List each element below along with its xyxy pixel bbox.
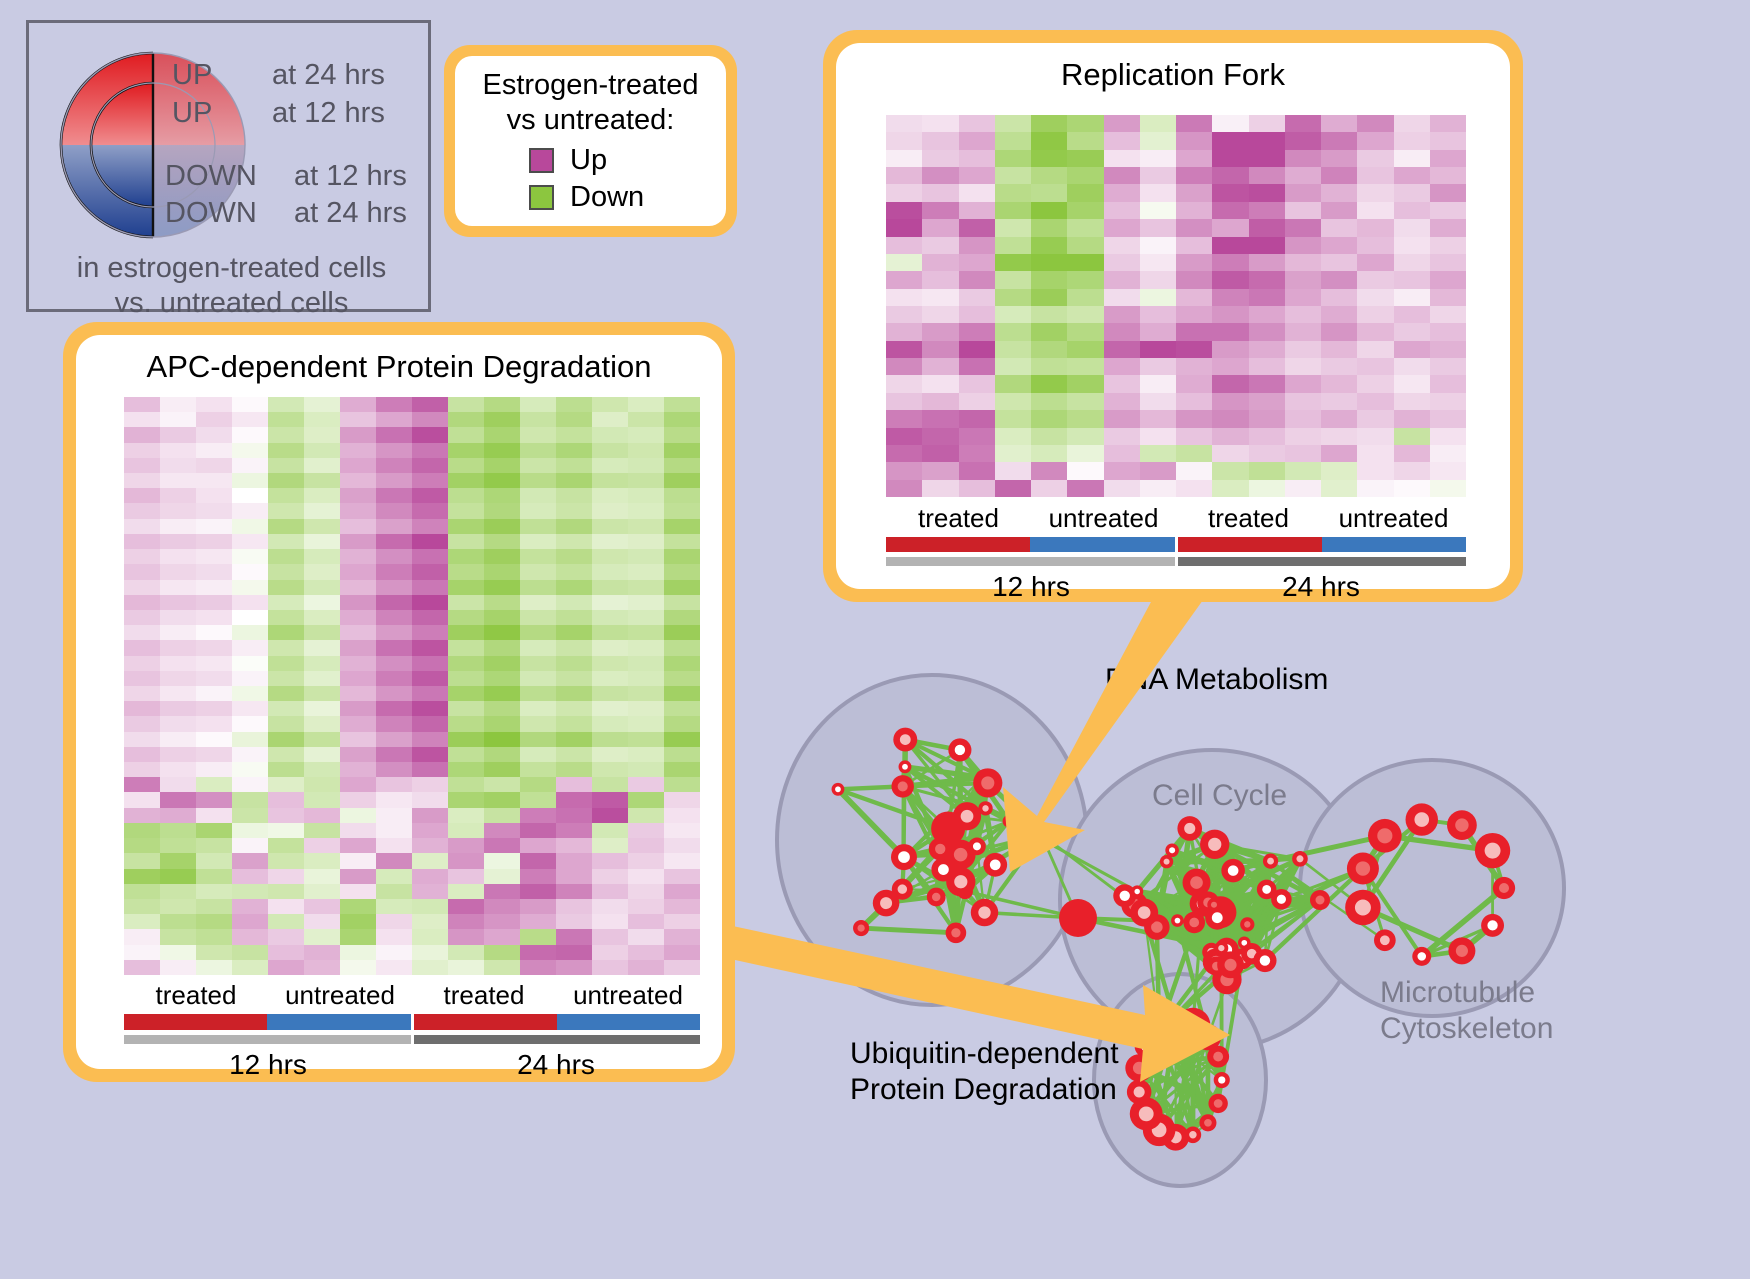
heatmap-cell (160, 610, 196, 625)
network-node[interactable] (832, 783, 845, 796)
heatmap-cell (340, 823, 376, 838)
heatmap-cell (1212, 271, 1248, 288)
heatmap-cell (232, 823, 268, 838)
node-inner (1189, 1131, 1196, 1138)
heatmap-cell (1321, 219, 1357, 236)
legend-direction-0: UP (172, 59, 212, 92)
heatmap-cell (196, 412, 232, 427)
heatmap-cell (196, 564, 232, 579)
network-node[interactable] (929, 837, 952, 860)
heatmap-cell (1357, 219, 1393, 236)
heatmap-cell (160, 716, 196, 731)
heatmap-cell (520, 412, 556, 427)
heatmap-cell (520, 914, 556, 929)
node-inner (1120, 891, 1130, 901)
heatmap-cell (448, 564, 484, 579)
network-node[interactable] (891, 844, 917, 870)
network-node[interactable] (1003, 815, 1015, 827)
heatmap-cell (556, 914, 592, 929)
heatmap-cell (484, 808, 520, 823)
heatmap-cell (160, 549, 196, 564)
heatmap-cell (232, 443, 268, 458)
heatmap-cell (1140, 393, 1176, 410)
heatmap-cell (959, 167, 995, 184)
heatmap-cell (268, 747, 304, 762)
heatmap-cell (628, 853, 664, 868)
node-inner (1218, 1076, 1225, 1083)
condition-bar-segment-2 (414, 1014, 557, 1030)
heatmap-cell (520, 762, 556, 777)
heatmap-cell (1104, 375, 1140, 392)
heatmap-cell (196, 640, 232, 655)
heatmap-cell (376, 443, 412, 458)
heatmap-cell (160, 443, 196, 458)
network-node[interactable] (1214, 1072, 1230, 1088)
heatmap-cell (664, 549, 700, 564)
network-node[interactable] (1263, 853, 1278, 868)
figure-root: UP at 24 hrs UP at 12 hrs DOWN at 12 hrs… (0, 0, 1750, 1279)
network-node[interactable] (1481, 914, 1504, 937)
heatmap-cell (1104, 341, 1140, 358)
group-label-treated-2: treated (412, 980, 556, 1011)
heatmap-cell (1321, 289, 1357, 306)
heatmap-cell (1249, 445, 1285, 462)
heatmap-cell (1357, 428, 1393, 445)
heatmap-cell (412, 701, 448, 716)
heatmap-cell (448, 792, 484, 807)
heatmap-cell (1285, 375, 1321, 392)
network-node[interactable] (1475, 833, 1510, 868)
heatmap-cell (124, 625, 160, 640)
network-node[interactable] (1183, 912, 1205, 934)
heatmap-cell (232, 625, 268, 640)
heatmap-cell (995, 428, 1031, 445)
network-node[interactable] (1240, 917, 1254, 931)
heatmap-cell (922, 410, 958, 427)
network-node[interactable] (1292, 851, 1308, 867)
node-inner (1260, 955, 1270, 965)
heatmap-cell (664, 534, 700, 549)
network-node[interactable] (1345, 890, 1381, 926)
heatmap-cell (1357, 237, 1393, 254)
heatmap-cell (484, 473, 520, 488)
heatmap-cell (628, 610, 664, 625)
heatmap-cell (412, 595, 448, 610)
heatmap-cell (1140, 271, 1176, 288)
heatmap-cell (484, 397, 520, 412)
heatmap-cell (1285, 132, 1321, 149)
heatmap-cell (304, 549, 340, 564)
heatmap-cell (1140, 410, 1176, 427)
heatmap-cell (124, 929, 160, 944)
heatmap-cell (628, 792, 664, 807)
heatmap-cell (520, 549, 556, 564)
network-node[interactable] (1199, 1114, 1216, 1131)
heatmap-cell (124, 595, 160, 610)
heatmap-cell (376, 458, 412, 473)
heatmap-cell (520, 503, 556, 518)
heatmap-cell (196, 929, 232, 944)
network-node[interactable] (1171, 914, 1184, 927)
heatmap-cell (520, 427, 556, 442)
heatmap-cell (160, 473, 196, 488)
heatmap-cell (995, 393, 1031, 410)
node-inner (1141, 1041, 1151, 1051)
heatmap-cell (1212, 202, 1248, 219)
heatmap-cell (664, 610, 700, 625)
heatmap-cell (664, 929, 700, 944)
heatmap-cell (124, 564, 160, 579)
heatmap-cell (664, 716, 700, 731)
heatmap-cell (124, 412, 160, 427)
heatmap-cell (922, 150, 958, 167)
heatmap-cell (592, 762, 628, 777)
network-node[interactable] (1221, 859, 1245, 883)
heatmap-cell (628, 671, 664, 686)
heatmap-cell (160, 503, 196, 518)
heatmap-cell (304, 473, 340, 488)
network-node[interactable] (971, 899, 998, 926)
heatmap-cell (1067, 254, 1103, 271)
heatmap-cell (592, 792, 628, 807)
heatmap-cell (268, 625, 304, 640)
heatmap-cell (1394, 254, 1430, 271)
heatmap-cell (556, 519, 592, 534)
heatmap-cell (1394, 271, 1430, 288)
heatmap-cell (1067, 323, 1103, 340)
heatmap-cell (340, 945, 376, 960)
apc-group-labels: treateduntreatedtreateduntreated (124, 980, 700, 1011)
heatmap-cell (1321, 375, 1357, 392)
network-node[interactable] (946, 867, 975, 896)
heatmap-cell (886, 289, 922, 306)
heatmap-cell (340, 656, 376, 671)
network-node[interactable] (1200, 830, 1229, 859)
heatmap-cell (304, 534, 340, 549)
network-node[interactable] (983, 853, 1007, 877)
heatmap-cell (664, 656, 700, 671)
heatmap-cell (160, 960, 196, 975)
heatmap-cell (196, 625, 232, 640)
node-inner (1455, 818, 1468, 831)
heatmap-cell (1321, 341, 1357, 358)
network-node[interactable] (1059, 899, 1097, 937)
network-node[interactable] (1412, 947, 1431, 966)
network-node[interactable] (1374, 929, 1396, 951)
heatmap-cell (232, 960, 268, 975)
heatmap-cell (376, 412, 412, 427)
heatmap-cell (448, 534, 484, 549)
heatmap-cell (1430, 184, 1466, 201)
network-node[interactable] (1448, 937, 1475, 964)
heatmap-cell (628, 960, 664, 975)
heatmap-cell (922, 341, 958, 358)
network-node[interactable] (1131, 885, 1143, 897)
heatmap-cell (412, 412, 448, 427)
heatmap-cell (592, 640, 628, 655)
heatmap-cell (340, 884, 376, 899)
heatmap-cell (995, 115, 1031, 132)
heatmap-cell (124, 610, 160, 625)
heatmap-cell (592, 945, 628, 960)
heatmap-cell (448, 671, 484, 686)
heatmap-cell (232, 747, 268, 762)
heatmap-cell (448, 412, 484, 427)
heatmap-cell (1430, 480, 1466, 497)
heatmap-cell (556, 945, 592, 960)
heatmap-cell (340, 899, 376, 914)
heatmap-cell (1140, 184, 1176, 201)
heatmap-cell (448, 838, 484, 853)
heatmap-cell (520, 580, 556, 595)
heatmap-cell (160, 595, 196, 610)
node-inner (1417, 952, 1426, 961)
heatmap-cell (448, 397, 484, 412)
network-node[interactable] (1310, 890, 1330, 910)
network-node[interactable] (853, 920, 869, 936)
network-node[interactable] (1130, 899, 1158, 927)
heatmap-cell (448, 884, 484, 899)
heatmap-cell (160, 427, 196, 442)
network-node[interactable] (1208, 1094, 1227, 1113)
heatmap-cell (664, 853, 700, 868)
heatmap-cell (1285, 115, 1321, 132)
heatmap-cell (1430, 445, 1466, 462)
heatmap-cell (628, 732, 664, 747)
heatmap-cell (1067, 445, 1103, 462)
heatmap-cell (1104, 132, 1140, 149)
heatmap-cell (1357, 167, 1393, 184)
heatmap-cell (196, 747, 232, 762)
heatmap-cell (304, 656, 340, 671)
heatmap-cell (1067, 184, 1103, 201)
heatmap-cell (1430, 462, 1466, 479)
network-node[interactable] (953, 802, 981, 830)
network-node[interactable] (1177, 816, 1202, 841)
heatmap-cell (340, 488, 376, 503)
network-node[interactable] (1447, 810, 1477, 840)
network-node[interactable] (968, 838, 986, 856)
network-node[interactable] (1207, 898, 1220, 911)
heatmap-cell (304, 853, 340, 868)
network-node[interactable] (1347, 853, 1379, 885)
heatmap-cell (1212, 393, 1248, 410)
network-node[interactable] (978, 801, 992, 815)
node-inner (1212, 912, 1223, 923)
heatmap-cell (959, 150, 995, 167)
heatmap-cell (1394, 202, 1430, 219)
heatmap-cell (995, 237, 1031, 254)
heatmap-cell (556, 732, 592, 747)
network-node[interactable] (892, 879, 913, 900)
heatmap-cell (1357, 445, 1393, 462)
node-inner (1244, 921, 1250, 927)
heatmap-cell (376, 397, 412, 412)
heatmap-cell (304, 412, 340, 427)
heatmap-cell (520, 458, 556, 473)
heatmap-cell (160, 686, 196, 701)
heatmap-cell (995, 323, 1031, 340)
heatmap-cell (160, 671, 196, 686)
heatmap-cell (196, 869, 232, 884)
heatmap-cell (1321, 167, 1357, 184)
heatmap-cell (1357, 115, 1393, 132)
heatmap-cell (1321, 445, 1357, 462)
network-node[interactable] (893, 728, 917, 752)
heatmap-cell (484, 534, 520, 549)
heatmap-cell (1176, 254, 1212, 271)
network-node[interactable] (1125, 1054, 1153, 1082)
network-node[interactable] (1207, 1046, 1229, 1068)
heatmap-cell (1321, 358, 1357, 375)
heatmap-cell (1176, 393, 1212, 410)
heatmap-cell (664, 564, 700, 579)
network-node[interactable] (948, 738, 971, 761)
heatmap-cell (1430, 410, 1466, 427)
heatmap-cell (1104, 289, 1140, 306)
network-node[interactable] (1493, 877, 1515, 899)
network-node[interactable] (1214, 941, 1228, 955)
heatmap-cell (376, 610, 412, 625)
network-node[interactable] (1406, 803, 1438, 835)
heatmap-cell (304, 823, 340, 838)
heatmap-cell (1212, 306, 1248, 323)
heatmap-cell (1031, 115, 1067, 132)
heatmap-cell (232, 914, 268, 929)
heatmap-cell (232, 792, 268, 807)
heatmap-cell (448, 929, 484, 944)
network-node[interactable] (1368, 819, 1402, 853)
heatmap-cell (304, 458, 340, 473)
heatmap-cell (628, 701, 664, 716)
network-node[interactable] (899, 760, 912, 773)
heatmap-cell (995, 289, 1031, 306)
network-node[interactable] (1253, 949, 1276, 972)
heatmap-cell (1176, 184, 1212, 201)
heatmap-cell (592, 853, 628, 868)
time-bar-segment-0 (124, 1035, 411, 1044)
heatmap-cell (1031, 306, 1067, 323)
heatmap-cell (1430, 341, 1466, 358)
heatmap-cell (196, 443, 232, 458)
heatmap-cell (592, 914, 628, 929)
heatmap-cell (412, 869, 448, 884)
heatmap-cell (628, 443, 664, 458)
heatmap-cell (448, 747, 484, 762)
heatmap-cell (995, 462, 1031, 479)
down-swatch (529, 185, 554, 210)
heatmap-cell (1067, 306, 1103, 323)
heatmap-cell (160, 929, 196, 944)
heatmap-cell (232, 519, 268, 534)
heatmap-cell (1249, 271, 1285, 288)
network-node[interactable] (1217, 951, 1244, 978)
heatmap-cell (520, 519, 556, 534)
heatmap-cell (484, 686, 520, 701)
heatmap-cell (124, 777, 160, 792)
heatmap-cell (886, 184, 922, 201)
heatmap-cell (124, 899, 160, 914)
heatmap-cell (520, 929, 556, 944)
heatmap-cell (268, 716, 304, 731)
network-node[interactable] (973, 768, 1002, 797)
estrogen-key-panel: Estrogen-treated vs untreated: Up Down (444, 45, 737, 237)
heatmap-cell (1031, 167, 1067, 184)
heatmap-cell (340, 564, 376, 579)
heatmap-cell (196, 960, 232, 975)
heatmap-cell (1067, 393, 1103, 410)
network-node[interactable] (1029, 822, 1053, 846)
heatmap-cell (1249, 410, 1285, 427)
heatmap-cell (556, 686, 592, 701)
heatmap-cell (1067, 480, 1103, 497)
legend-direction-2: DOWN (165, 160, 257, 193)
heatmap-cell (1140, 462, 1176, 479)
heatmap-cell (340, 732, 376, 747)
heatmap-cell (1104, 306, 1140, 323)
heatmap-cell (628, 716, 664, 731)
heatmap-cell (160, 732, 196, 747)
heatmap-cell (124, 869, 160, 884)
cluster-label-dna-metabolism: DNA Metabolism (1105, 662, 1328, 698)
heatmap-cell (1212, 132, 1248, 149)
heatmap-cell (304, 519, 340, 534)
network-node[interactable] (946, 922, 967, 943)
heatmap-cell (886, 202, 922, 219)
heatmap-cell (1104, 237, 1140, 254)
node-inner (1377, 828, 1392, 843)
heatmap-cell (556, 397, 592, 412)
key-panel-title: Estrogen-treated vs untreated: (455, 68, 726, 138)
heatmap-cell (1140, 358, 1176, 375)
heatmap-cell (484, 914, 520, 929)
heatmap-cell (1212, 289, 1248, 306)
heatmap-cell (556, 503, 592, 518)
heatmap-cell (886, 237, 922, 254)
heatmap-cell (664, 914, 700, 929)
heatmap-cell (412, 534, 448, 549)
network-node[interactable] (1127, 1080, 1152, 1105)
heatmap-cell (1031, 132, 1067, 149)
heatmap-cell (124, 792, 160, 807)
heatmap-cell (412, 549, 448, 564)
heatmap-cell (412, 488, 448, 503)
network-node[interactable] (891, 775, 914, 798)
node-inner (1316, 896, 1325, 905)
heatmap-cell (340, 686, 376, 701)
node-inner (1218, 945, 1224, 951)
heatmap-cell (1140, 375, 1176, 392)
heatmap-cell (556, 580, 592, 595)
network-node[interactable] (927, 888, 946, 907)
heatmap-cell (959, 445, 995, 462)
network-node[interactable] (1165, 843, 1179, 857)
heatmap-cell (1031, 341, 1067, 358)
heatmap-cell (268, 686, 304, 701)
heatmap-cell (268, 656, 304, 671)
heatmap-cell (340, 519, 376, 534)
heatmap-cell (592, 656, 628, 671)
heatmap-cell (592, 458, 628, 473)
colorwheel-footer-line1: in estrogen-treated cells (29, 251, 434, 286)
heatmap-cell (340, 534, 376, 549)
heatmap-cell (995, 410, 1031, 427)
node-inner (1214, 1099, 1223, 1108)
heatmap-cell (556, 427, 592, 442)
heatmap-cell (922, 480, 958, 497)
network-node[interactable] (1257, 880, 1277, 900)
heatmap-cell (922, 167, 958, 184)
